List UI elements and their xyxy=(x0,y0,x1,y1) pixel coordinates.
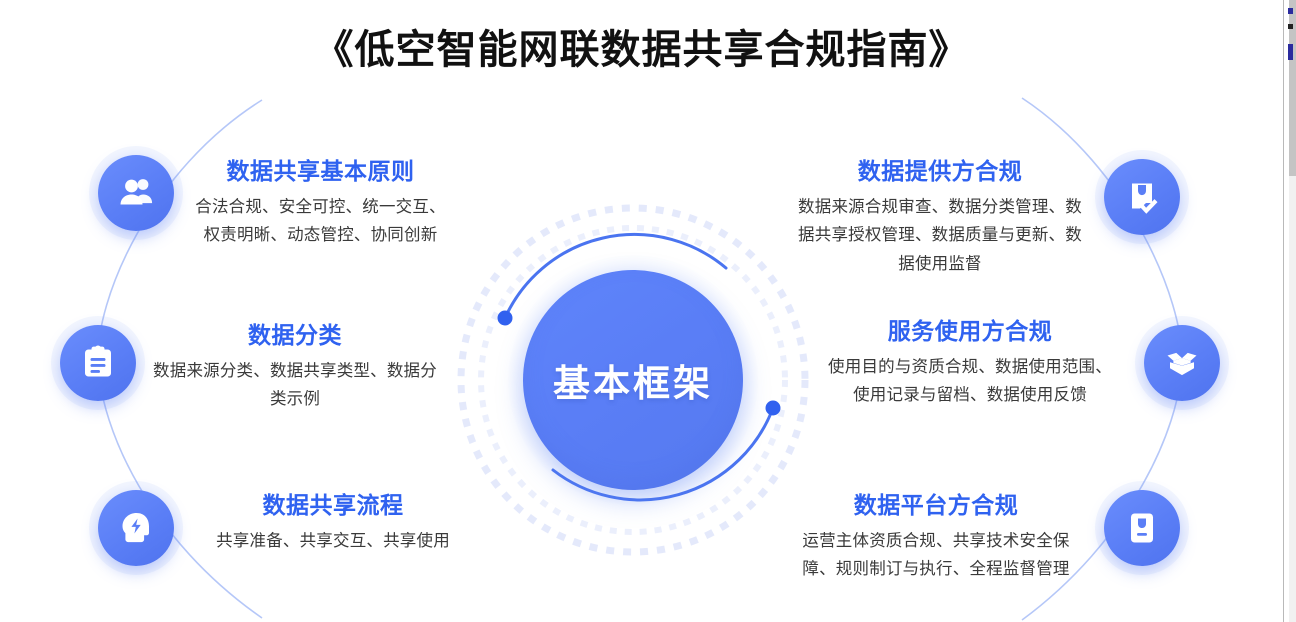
adjacent-window-edge xyxy=(1283,0,1296,622)
node-heading: 服务使用方合规 xyxy=(820,318,1120,346)
document-check-icon xyxy=(1104,159,1180,235)
node-body: 数据来源分类、数据共享类型、数据分类示例 xyxy=(150,357,440,415)
open-box-icon xyxy=(1144,325,1220,401)
hub-label: 基本框架 xyxy=(553,353,713,407)
node-text-block: 服务使用方合规 使用目的与资质合规、数据使用范围、使用记录与留档、数据使用反馈 xyxy=(820,318,1120,410)
node-body: 使用目的与资质合规、数据使用范围、使用记录与留档、数据使用反馈 xyxy=(820,353,1120,411)
node-text-block: 数据共享基本原则 合法合规、安全可控、统一交互、权责明晰、动态管控、协同创新 xyxy=(188,158,453,250)
head-bolt-icon xyxy=(98,490,174,566)
node-text-block: 数据共享流程 共享准备、共享交互、共享使用 xyxy=(188,492,478,555)
edge-artifact xyxy=(1288,8,1293,14)
node-body: 数据来源合规审查、数据分类管理、数据共享授权管理、数据质量与更新、数据使用监督 xyxy=(790,193,1090,280)
center-hub: 基本框架 xyxy=(510,257,756,503)
accent-arc-bottom-dot xyxy=(766,401,781,416)
page-title: 《低空智能网联数据共享合规指南》 xyxy=(0,28,1283,72)
node-heading: 数据共享基本原则 xyxy=(188,158,453,186)
node-text-block: 数据提供方合规 数据来源合规审查、数据分类管理、数据共享授权管理、数据质量与更新… xyxy=(790,158,1090,279)
node-heading: 数据共享流程 xyxy=(188,492,478,520)
node-heading: 数据提供方合规 xyxy=(790,158,1090,186)
node-body: 共享准备、共享交互、共享使用 xyxy=(188,527,478,556)
document-smile-icon xyxy=(1104,490,1180,566)
infographic-canvas: 《低空智能网联数据共享合规指南》 基本框架 xyxy=(0,0,1296,622)
node-body: 合法合规、安全可控、统一交互、权责明晰、动态管控、协同创新 xyxy=(188,193,453,251)
edge-artifact xyxy=(1288,44,1293,60)
node-text-block: 数据平台方合规 运营主体资质合规、共享技术安全保障、规则制订与执行、全程监督管理 xyxy=(786,492,1086,584)
node-text-block: 数据分类 数据来源分类、数据共享类型、数据分类示例 xyxy=(150,322,440,414)
scrollbar-track[interactable] xyxy=(1289,0,1296,622)
clipboard-icon xyxy=(60,325,136,401)
edge-artifact xyxy=(1288,24,1293,29)
users-icon xyxy=(98,155,174,231)
hub-circle: 基本框架 xyxy=(523,270,743,490)
node-heading: 数据分类 xyxy=(150,322,440,350)
node-heading: 数据平台方合规 xyxy=(786,492,1086,520)
node-body: 运营主体资质合规、共享技术安全保障、规则制订与执行、全程监督管理 xyxy=(786,527,1086,585)
